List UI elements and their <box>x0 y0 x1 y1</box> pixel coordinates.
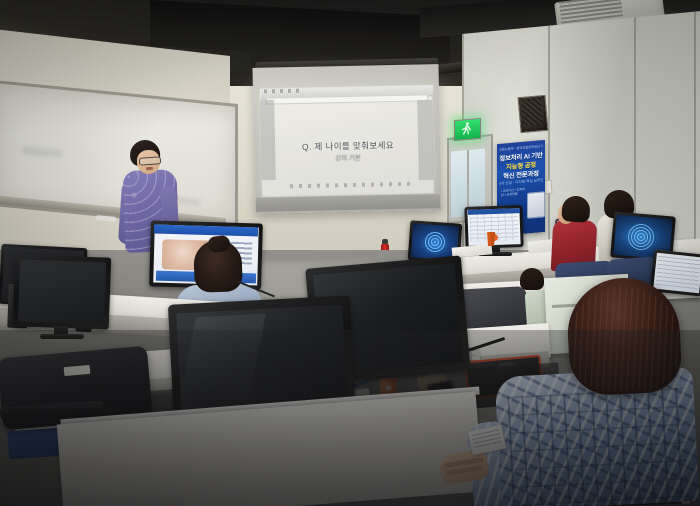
projected-toolbar-buttons <box>264 89 304 94</box>
classroom-photo: Q. 제 나이를 맞춰보세요 강의 기본 고용노동부 · 한국산업인력공단 지원… <box>0 0 700 506</box>
floor-shadow <box>0 330 700 506</box>
wall-speaker-mesh <box>521 98 543 126</box>
projected-slide-margin-left <box>260 100 276 180</box>
wall-seam <box>694 11 696 241</box>
monitor-back-right-4-content <box>656 256 700 290</box>
running-man-icon <box>459 120 474 136</box>
wall-seam <box>548 26 550 256</box>
student-e-hair <box>520 268 544 290</box>
instructor-mouth <box>146 167 153 170</box>
banner-tablet-graphic <box>527 191 545 219</box>
monitor-left-foreground-screen <box>18 260 106 325</box>
glasses-icon <box>139 156 162 166</box>
